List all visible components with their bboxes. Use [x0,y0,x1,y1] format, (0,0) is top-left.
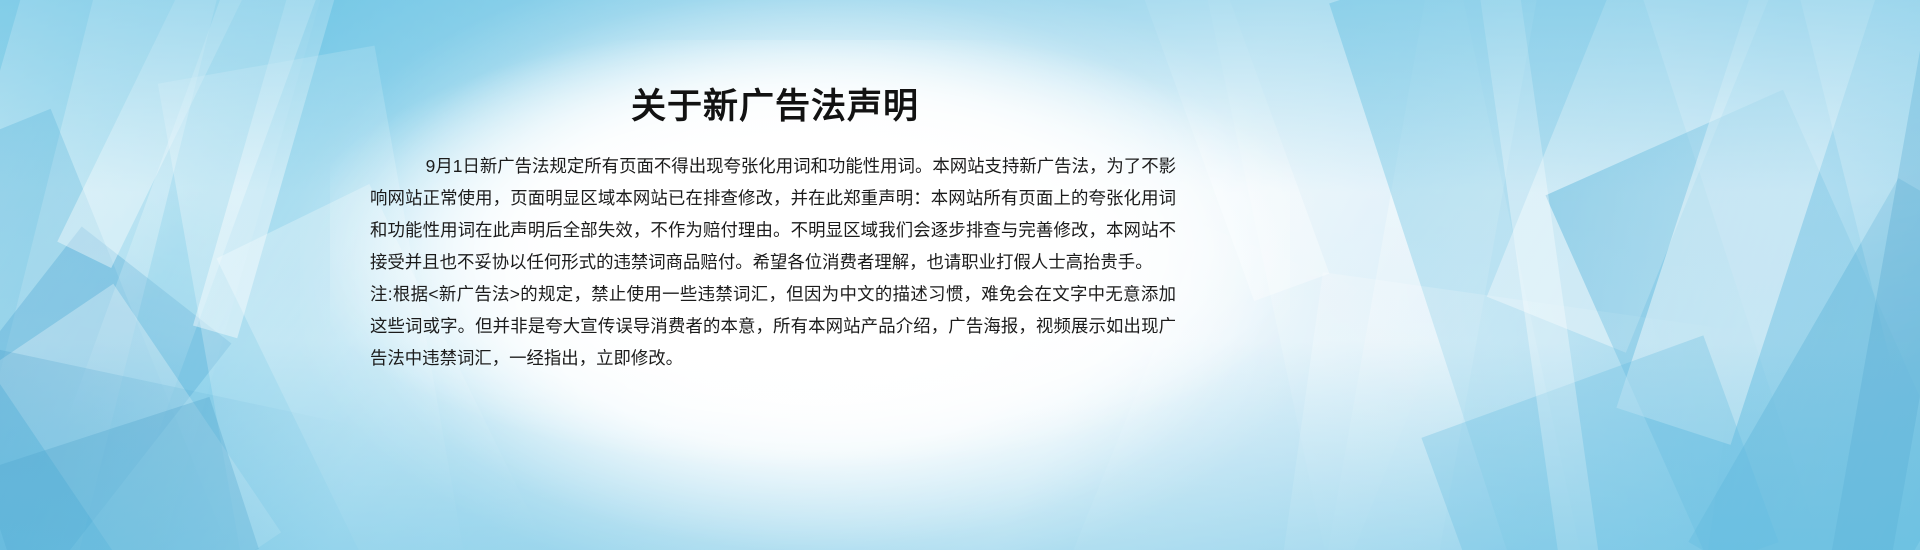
statement-content: 关于新广告法声明 9月1日新广告法规定所有页面不得出现夸张化用词和功能性用词。本… [370,0,1180,550]
statement-body: 9月1日新广告法规定所有页面不得出现夸张化用词和功能性用词。本网站支持新广告法，… [370,150,1176,374]
statement-paragraph-2: 注:根据<新广告法>的规定，禁止使用一些违禁词汇，但因为中文的描述习惯，难免会在… [370,278,1176,374]
statement-paragraph-1: 9月1日新广告法规定所有页面不得出现夸张化用词和功能性用词。本网站支持新广告法，… [370,150,1176,278]
banner-stage: 关于新广告法声明 9月1日新广告法规定所有页面不得出现夸张化用词和功能性用词。本… [0,0,1920,550]
page-title: 关于新广告法声明 [370,88,1180,127]
